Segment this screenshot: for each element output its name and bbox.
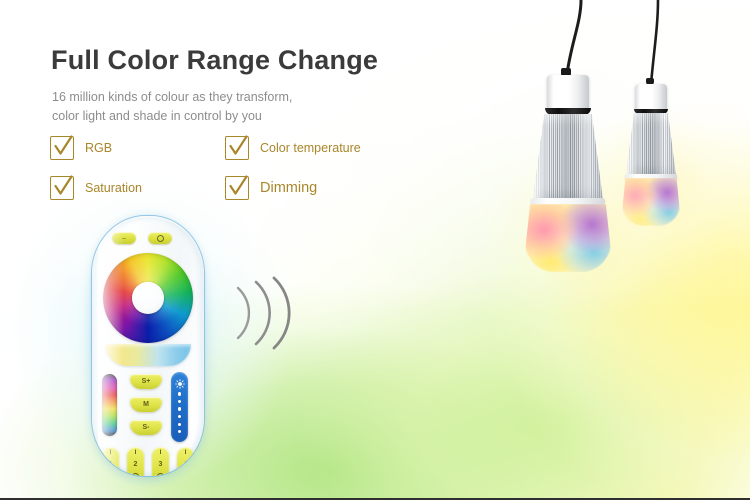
bulb-front-cap	[547, 75, 589, 111]
checkbox-rgb[interactable]	[50, 136, 74, 160]
feature-row-1: RGB Color temperature	[50, 136, 430, 160]
power-icon	[157, 235, 164, 242]
zone-key-on-label: I	[110, 450, 112, 457]
feature-item-saturation[interactable]: Saturation	[50, 176, 225, 200]
feature-row-2: Saturation Dimming	[50, 176, 430, 200]
feature-list: RGB Color temperature Saturation	[50, 136, 430, 216]
subtitle-line-2: color light and shade in control by you	[52, 107, 292, 126]
brightness-dot	[178, 415, 181, 418]
remote-control[interactable]: – S+ M S-	[92, 216, 204, 476]
zone-key-on-label: I	[160, 450, 162, 457]
zone-key-off-icon	[157, 473, 164, 476]
zone-key-number: 3	[159, 461, 163, 468]
zone-key-1[interactable]: I 1	[102, 447, 119, 476]
color-wheel[interactable]	[103, 253, 193, 343]
zone-key-number: 2	[134, 461, 138, 468]
feature-label-rgb: RGB	[85, 141, 112, 155]
page-title: Full Color Range Change	[51, 45, 378, 76]
checkbox-dimming[interactable]	[225, 176, 249, 200]
zone-key-number: 4	[184, 461, 188, 468]
bulb-front-heatsink	[533, 114, 603, 200]
zone-key-off-icon	[182, 473, 189, 476]
zone-key-2[interactable]: I 2	[127, 447, 144, 476]
subtitle-line-1: 16 million kinds of colour as they trans…	[52, 88, 292, 107]
saturation-strip[interactable]	[102, 374, 117, 436]
brightness-dot	[178, 423, 181, 426]
zone-key-off-icon	[132, 473, 139, 476]
zone-key-row: I 1 I 2 I 3 I 4	[102, 447, 194, 448]
remote-button-mode[interactable]: M	[130, 397, 162, 412]
checkbox-color-temperature[interactable]	[225, 136, 249, 160]
remote-button-mode-minus[interactable]: –	[112, 232, 136, 244]
bulb-front-black-ring	[545, 108, 591, 115]
signal-arcs-icon	[232, 276, 298, 350]
brightness-dot	[178, 392, 181, 395]
zone-key-off-icon	[107, 473, 114, 476]
brightness-sun-icon	[175, 376, 184, 385]
feature-item-rgb[interactable]: RGB	[50, 136, 225, 160]
brightness-dot	[178, 400, 181, 403]
feature-item-color-temperature[interactable]: Color temperature	[225, 136, 361, 160]
feature-item-dimming[interactable]: Dimming	[225, 176, 317, 200]
remote-button-power[interactable]	[148, 232, 172, 244]
brightness-dot	[178, 430, 181, 433]
brightness-dot	[178, 407, 181, 410]
remote-body: – S+ M S-	[92, 216, 204, 476]
zone-key-on-label: I	[135, 450, 137, 457]
remote-button-speed-up[interactable]: S+	[130, 374, 162, 389]
feature-label-color-temperature: Color temperature	[260, 141, 361, 155]
brightness-strip[interactable]	[171, 372, 188, 442]
zone-key-on-label: I	[185, 450, 187, 457]
check-icon	[227, 175, 249, 199]
minus-icon: –	[122, 235, 126, 242]
zone-key-4[interactable]: I 4	[177, 447, 194, 476]
rf-signal-waves	[232, 276, 298, 350]
page-subtitle: 16 million kinds of colour as they trans…	[52, 88, 292, 126]
zone-key-3[interactable]: I 3	[152, 447, 169, 476]
bulb-front-diffuser	[525, 204, 611, 272]
color-temperature-arc[interactable]	[105, 344, 191, 366]
bulb-front-collar	[531, 198, 605, 205]
promo-banner: Full Color Range Change 16 million kinds…	[0, 0, 750, 500]
checkbox-saturation[interactable]	[50, 176, 74, 200]
feature-label-saturation: Saturation	[85, 181, 142, 195]
bulb-front-cord	[545, 0, 593, 76]
check-icon	[52, 135, 74, 159]
bulb-front	[505, 0, 645, 300]
check-icon	[227, 135, 249, 159]
remote-button-speed-down[interactable]: S-	[130, 420, 162, 435]
feature-label-dimming: Dimming	[260, 180, 317, 196]
zone-key-number: 1	[109, 461, 113, 468]
color-wheel-hub[interactable]	[132, 282, 164, 314]
check-icon	[52, 175, 74, 199]
